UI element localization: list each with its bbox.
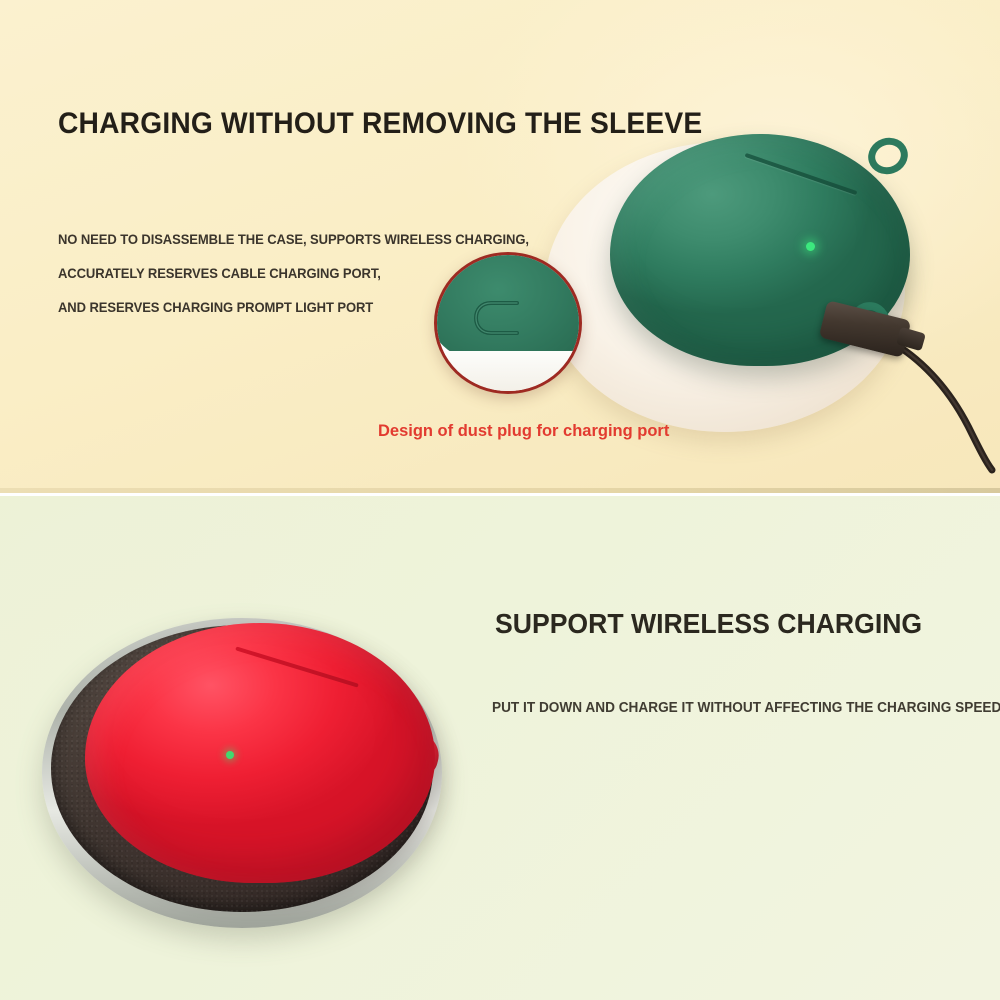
top-panel-heading: CHARGING WITHOUT REMOVING THE SLEEVE — [58, 107, 702, 141]
red-case-body — [85, 623, 435, 883]
panel-divider — [0, 488, 1000, 493]
red-earbud-case — [85, 623, 435, 883]
dust-plug-icon — [473, 299, 527, 337]
bottom-panel-subtitle: PUT IT DOWN AND CHARGE IT WITHOUT AFFECT… — [492, 700, 1000, 716]
detail-background-strip — [437, 351, 582, 391]
top-panel: CHARGING WITHOUT REMOVING THE SLEEVE NO … — [0, 0, 1000, 493]
product-infographic: CHARGING WITHOUT REMOVING THE SLEEVE NO … — [0, 0, 1000, 1000]
red-case-led-indicator — [226, 751, 234, 759]
bottom-panel-heading: SUPPORT WIRELESS CHARGING — [495, 608, 922, 640]
dust-plug-detail-circle — [434, 252, 582, 394]
body-line-1: NO NEED TO DISASSEMBLE THE CASE, SUPPORT… — [58, 222, 529, 256]
carabiner-loop-icon — [863, 133, 912, 180]
dust-plug-caption: Design of dust plug for charging port — [378, 421, 669, 441]
green-earbud-case — [610, 134, 910, 366]
charging-led-indicator — [806, 242, 815, 251]
